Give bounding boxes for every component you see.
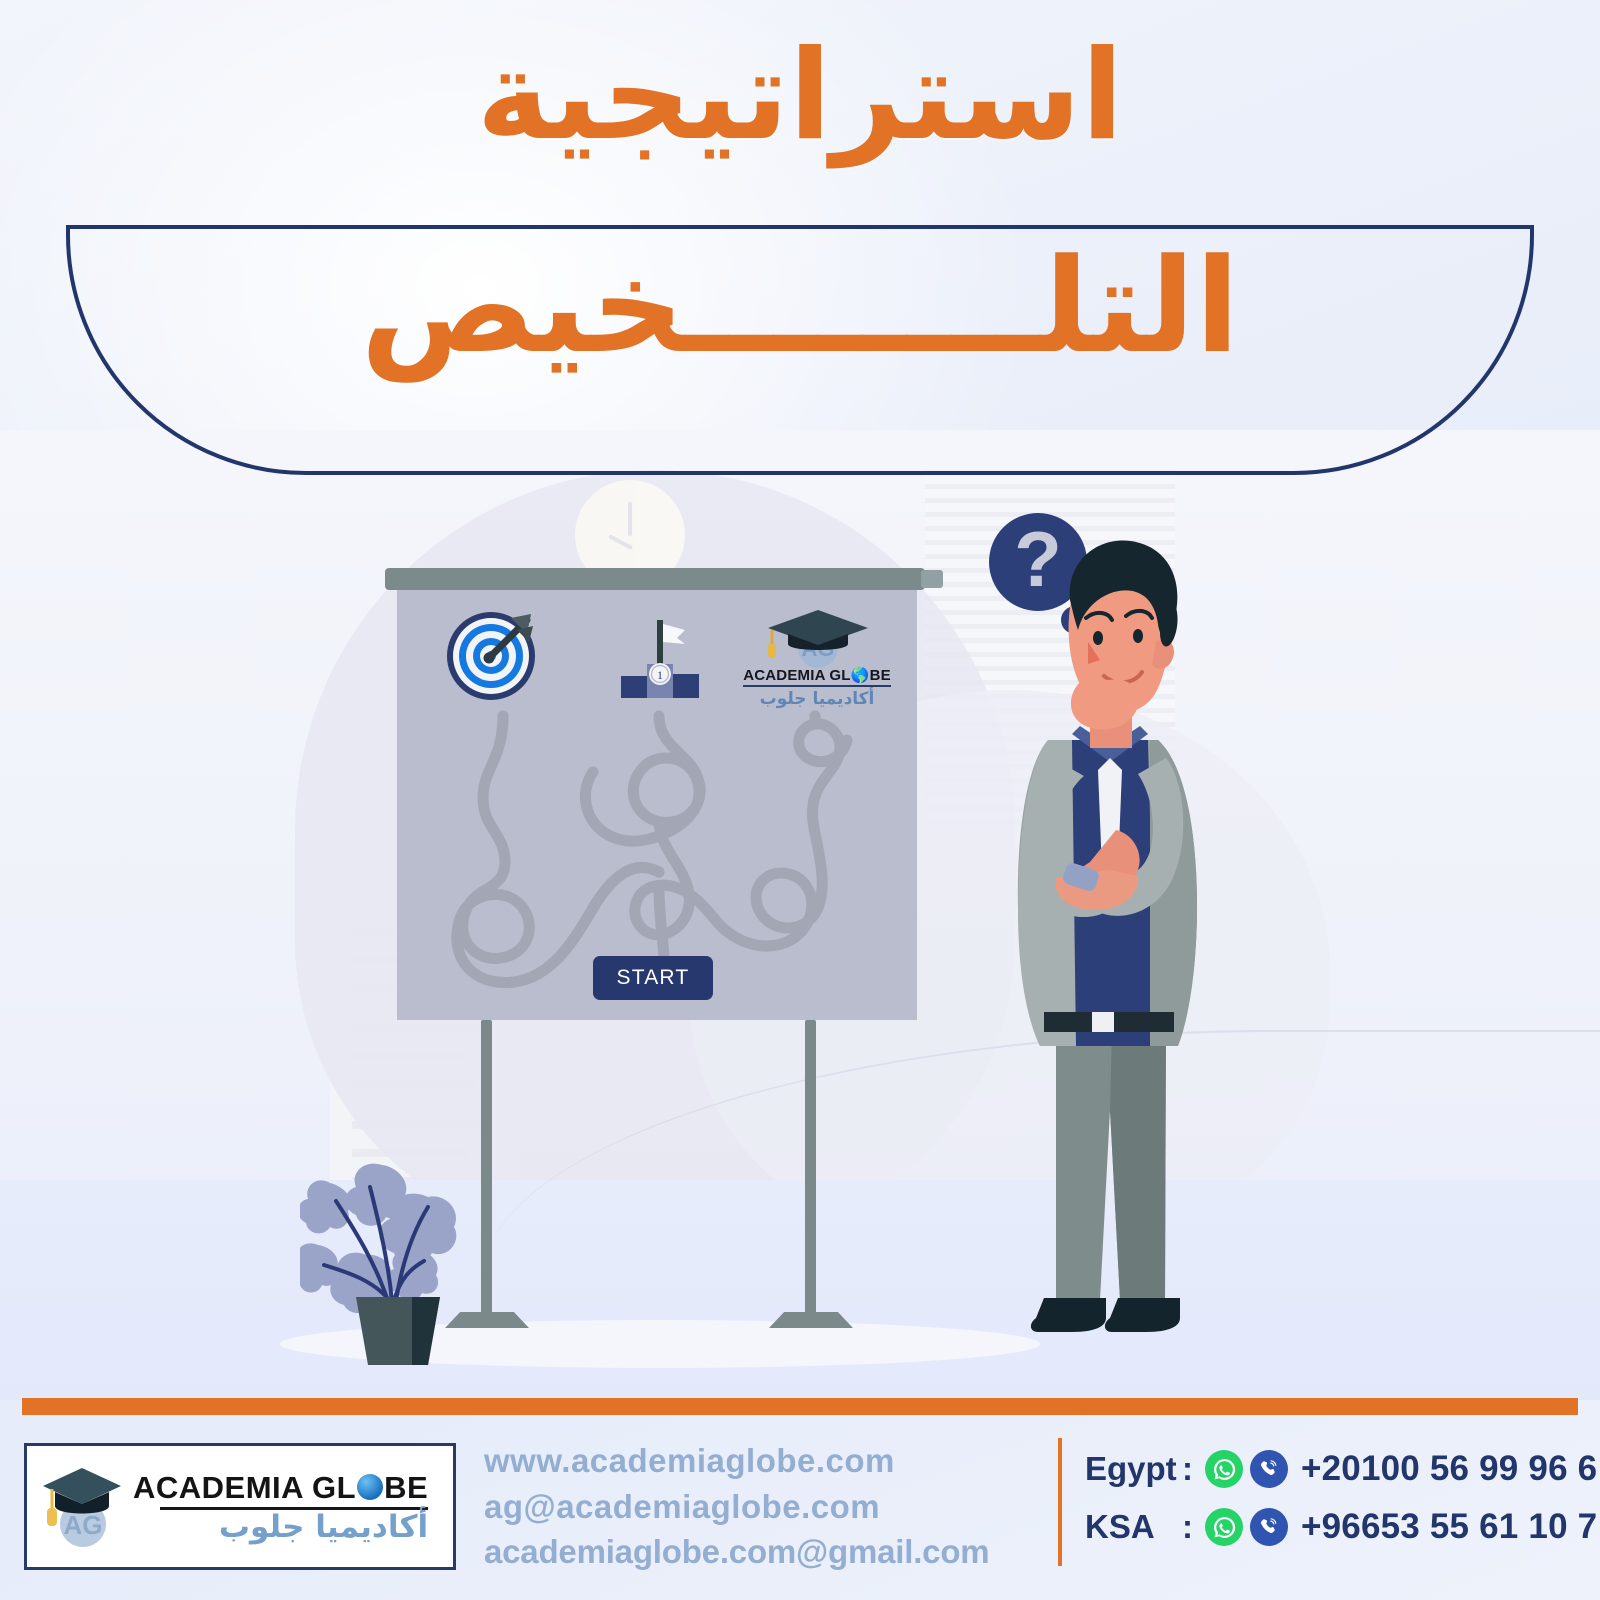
viber-icon[interactable]	[1250, 1508, 1288, 1546]
page-title-line2: التلــــــــخيص	[0, 238, 1600, 375]
phone-number-ksa[interactable]: +96653 55 61 10 7	[1301, 1507, 1597, 1547]
whiteboard-top-rail	[385, 568, 925, 590]
whiteboard-foot-right	[769, 1312, 853, 1328]
graduation-cap-icon: AG	[41, 1464, 123, 1550]
phone-colon-ksa: :	[1182, 1508, 1198, 1546]
whiteboard-logo: AG ACADEMIA GL🌎BE أكاديميا جلوب	[741, 604, 893, 709]
viber-icon[interactable]	[1250, 1450, 1288, 1488]
footer-phones: Egypt : +20100 56 99 96 6 KSA : +96653 5…	[1085, 1440, 1590, 1556]
phone-number-egypt[interactable]: +20100 56 99 96 6	[1301, 1449, 1597, 1489]
footer-divider-bar	[22, 1398, 1578, 1415]
footer-vertical-divider	[1058, 1438, 1062, 1566]
svg-text:AG: AG	[64, 1510, 103, 1540]
svg-text:?: ?	[1014, 515, 1062, 603]
whiteboard-leg-left	[481, 1020, 492, 1320]
contact-email-secondary[interactable]: academiaglobe.com@gmail.com	[484, 1529, 1044, 1575]
phone-row-ksa: KSA : +96653 55 61 10 7	[1085, 1498, 1590, 1556]
target-icon	[445, 610, 537, 702]
phone-label-egypt: Egypt	[1085, 1450, 1175, 1488]
phone-label-ksa: KSA	[1085, 1508, 1175, 1546]
footer-logo: AG ACADEMIA GLBE أكاديميا جلوب	[24, 1443, 456, 1570]
whatsapp-icon[interactable]	[1205, 1450, 1243, 1488]
thinking-person-illustration: ?	[960, 490, 1290, 1370]
start-button[interactable]: START	[593, 956, 713, 1000]
whiteboard-leg-right	[805, 1020, 816, 1320]
contact-website[interactable]: www.academiaglobe.com	[484, 1438, 1044, 1484]
phone-colon-egypt: :	[1182, 1450, 1198, 1488]
footer-contacts: www.academiaglobe.com ag@academiaglobe.c…	[484, 1438, 1044, 1575]
podium-rank-number: 1	[657, 668, 663, 682]
whatsapp-icon[interactable]	[1205, 1508, 1243, 1546]
contact-email-primary[interactable]: ag@academiaglobe.com	[484, 1484, 1044, 1530]
whiteboard-logo-english: ACADEMIA GL🌎BE	[743, 666, 891, 687]
podium-icon: 1	[613, 612, 705, 704]
graduation-cap-icon: AG	[742, 604, 892, 668]
footer-logo-arabic: أكاديميا جلوب	[219, 1511, 428, 1544]
whiteboard-logo-arabic: أكاديميا جلوب	[741, 689, 893, 709]
footer-logo-english: ACADEMIA GLBE	[133, 1472, 428, 1503]
poster-canvas: استراتيجية التلــــــــخيص	[0, 0, 1600, 1600]
page-title-line1: استراتيجية	[0, 28, 1600, 164]
phone-row-egypt: Egypt : +20100 56 99 96 6	[1085, 1440, 1590, 1498]
potted-plant	[300, 1125, 480, 1365]
